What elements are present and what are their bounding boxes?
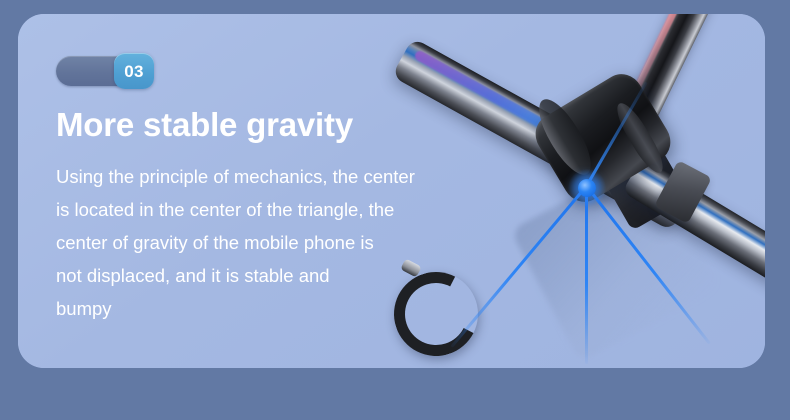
body-line: center of gravity of the mobile phone is <box>56 226 476 259</box>
hinge-ring-right <box>611 99 669 178</box>
upper-arm <box>598 14 721 177</box>
gravity-glow-dot-icon <box>578 179 596 197</box>
step-badge: 03 <box>56 56 148 86</box>
body-line: not displaced, and it is stable and <box>56 259 476 292</box>
gravity-ray-right <box>585 185 710 344</box>
body-line: is located in the center of the triangle… <box>56 193 476 226</box>
banner-root: 03 More stable gravity Using the princip… <box>0 0 790 420</box>
body-line: Using the principle of mechanics, the ce… <box>56 160 476 193</box>
content-card: 03 More stable gravity Using the princip… <box>18 14 765 368</box>
body-line: bumpy <box>56 292 476 325</box>
hinge-barrel <box>528 66 679 209</box>
phone-panel-shadow <box>510 155 722 363</box>
body-copy: Using the principle of mechanics, the ce… <box>56 160 476 325</box>
mid-block <box>604 149 689 230</box>
step-number: 03 <box>114 53 154 89</box>
gravity-glow-halo <box>568 169 606 207</box>
upper-arm-highlight <box>600 14 692 158</box>
hinge-ring-left <box>530 92 600 181</box>
right-rail <box>622 157 765 294</box>
gravity-ray-down <box>585 186 588 364</box>
page-title: More stable gravity <box>56 108 486 143</box>
gravity-ray-upper <box>585 81 648 186</box>
clamp-tab <box>654 160 712 224</box>
text-column: 03 More stable gravity Using the princip… <box>56 56 486 325</box>
